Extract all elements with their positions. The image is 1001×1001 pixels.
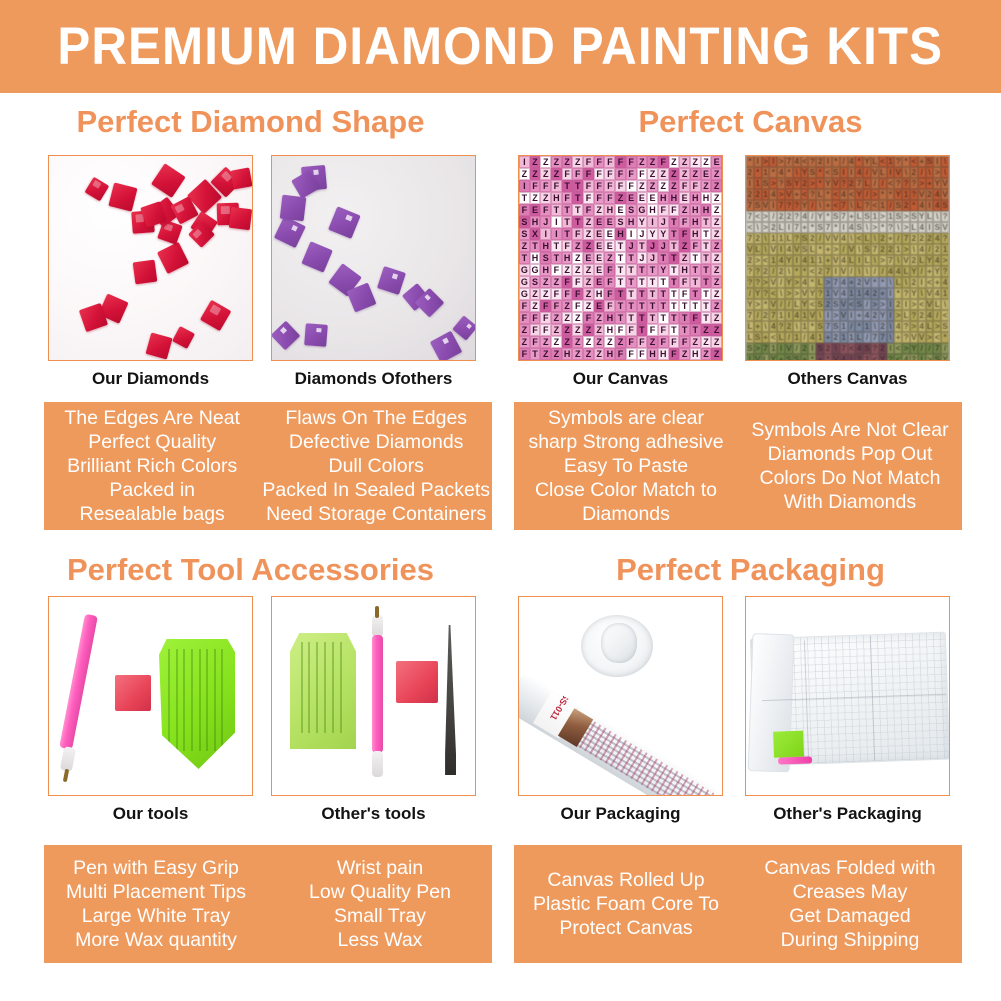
- canvas-cell: T: [530, 348, 541, 360]
- canvas-cell: S: [530, 276, 541, 288]
- canvas-cell: T: [701, 264, 712, 276]
- canvas-cell: F: [583, 180, 594, 192]
- canvas-cell-blurry: 4: [777, 167, 785, 178]
- canvas-cell-blurry: 1: [879, 200, 887, 211]
- canvas-cell-blurry: ?: [887, 354, 895, 361]
- canvas-cell-blurry: 2: [746, 255, 754, 266]
- canvas-cell-blurry: L: [902, 266, 910, 277]
- canvas-cell-blurry: S: [941, 321, 949, 332]
- canvas-cell-blurry: Y: [894, 189, 902, 200]
- caption-other-canvas: Others Canvas: [745, 369, 950, 389]
- canvas-cell: Z: [711, 204, 722, 216]
- canvas-cell-blurry: S: [816, 222, 824, 233]
- canvas-cell-blurry: V: [918, 332, 926, 343]
- canvas-cell-blurry: V: [808, 310, 816, 321]
- canvas-cell-blurry: Y: [879, 310, 887, 321]
- canvas-cell-blurry: S: [746, 343, 754, 354]
- canvas-cell: Z: [637, 156, 648, 168]
- canvas-cell: Z: [572, 156, 583, 168]
- canvas-cell: F: [604, 168, 615, 180]
- canvas-cell: E: [594, 300, 605, 312]
- diamond-drill: [271, 321, 300, 351]
- canvas-cell-blurry: 4: [918, 244, 926, 255]
- canvas-cell-blurry: \: [887, 332, 895, 343]
- canvas-cell-blurry: +: [762, 332, 770, 343]
- other-tools-photo: [272, 597, 475, 795]
- caption-our-diamonds: Our Diamonds: [48, 369, 253, 389]
- info-line: Easy To Paste: [564, 454, 688, 478]
- canvas-cell-blurry: L: [855, 200, 863, 211]
- canvas-cell: H: [690, 216, 701, 228]
- pen-cap-icon: [372, 751, 383, 777]
- canvas-cell-blurry: >: [785, 288, 793, 299]
- canvas-cell-blurry: 4: [933, 233, 941, 244]
- canvas-cell: Z: [530, 168, 541, 180]
- info-line: Need Storage Containers: [266, 502, 486, 526]
- canvas-cell: Z: [690, 336, 701, 348]
- canvas-cell-blurry: \: [848, 354, 856, 361]
- tray-grooves-icon: [159, 639, 235, 769]
- canvas-cell-blurry: 4: [840, 288, 848, 299]
- canvas-cell: F: [626, 336, 637, 348]
- canvas-cell-blurry: 1: [863, 321, 871, 332]
- info-line: Multi Placement Tips: [66, 880, 246, 904]
- canvas-cell: F: [615, 348, 626, 360]
- canvas-cell: F: [637, 348, 648, 360]
- canvas-cell: Z: [711, 360, 722, 361]
- canvas-cell-blurry: /: [808, 211, 816, 222]
- canvas-cell-blurry: I: [754, 156, 762, 167]
- small-green-tray-icon: [290, 633, 356, 749]
- canvas-cell: G: [530, 264, 541, 276]
- canvas-cell: F: [551, 264, 562, 276]
- canvas-cell-blurry: Y: [754, 288, 762, 299]
- canvas-cell-blurry: L: [871, 156, 879, 167]
- canvas-cell-blurry: 7: [746, 310, 754, 321]
- pen-needle-icon: [375, 606, 379, 618]
- canvas-cell-blurry: 2: [887, 244, 895, 255]
- canvas-cell-blurry: +: [754, 321, 762, 332]
- canvas-cell-blurry: I: [777, 244, 785, 255]
- canvas-cell: F: [679, 336, 690, 348]
- info-line: Dull Colors: [329, 454, 424, 478]
- canvas-cell-blurry: /: [926, 244, 934, 255]
- canvas-cell-blurry: <: [918, 299, 926, 310]
- canvas-cell: Z: [711, 300, 722, 312]
- canvas-cell-blurry: S: [785, 354, 793, 361]
- canvas-cell: Y: [658, 228, 669, 240]
- canvas-cell: Z: [701, 348, 712, 360]
- canvas-cell: F: [540, 312, 551, 324]
- canvas-cell-blurry: S: [801, 244, 809, 255]
- canvas-cell: T: [637, 324, 648, 336]
- canvas-cell-blurry: ?: [762, 288, 770, 299]
- canvas-cell: E: [583, 252, 594, 264]
- canvas-cell-blurry: >: [941, 255, 949, 266]
- canvas-cell-blurry: S: [855, 222, 863, 233]
- canvas-cell-blurry: /: [926, 343, 934, 354]
- canvas-cell-blurry: 4: [769, 321, 777, 332]
- canvas-cell: H: [604, 312, 615, 324]
- canvas-cell-blurry: V: [941, 222, 949, 233]
- canvas-cell-blurry: 4: [840, 189, 848, 200]
- diamond-drill: [157, 242, 189, 274]
- canvas-cell-blurry: 2: [879, 343, 887, 354]
- photo-card-our-canvas: IZZZZZFFFFFZZFZZZZEZZZZFFFFFFFFZZZZZEZIF…: [518, 155, 723, 361]
- infobox-diamond-shape-others: Flaws On The Edges Defective Diamonds Du…: [260, 402, 492, 530]
- section-title-packaging: Perfect Packaging: [500, 552, 1001, 588]
- canvas-cell: E: [594, 252, 605, 264]
- canvas-cell-blurry: >: [894, 310, 902, 321]
- canvas-cell: Z: [711, 336, 722, 348]
- canvas-cell-blurry: /: [863, 167, 871, 178]
- canvas-cell-blurry: S: [816, 299, 824, 310]
- diamond-drill: [280, 195, 307, 222]
- canvas-cell: F: [615, 324, 626, 336]
- canvas-cell-blurry: S: [816, 321, 824, 332]
- canvas-cell: Z: [551, 348, 562, 360]
- canvas-cell: H: [647, 348, 658, 360]
- canvas-cell-blurry: S: [754, 332, 762, 343]
- canvas-cell-blurry: >: [754, 299, 762, 310]
- canvas-cell-blurry: +: [848, 211, 856, 222]
- canvas-cell-blurry: ?: [785, 200, 793, 211]
- canvas-cell-blurry: *: [894, 288, 902, 299]
- canvas-cell: Z: [562, 300, 573, 312]
- caption-other-tools: Other's tools: [271, 804, 476, 824]
- canvas-cell: Z: [583, 276, 594, 288]
- canvas-cell-blurry: Y: [785, 255, 793, 266]
- canvas-cell-blurry: 7: [824, 266, 832, 277]
- canvas-cell: F: [679, 216, 690, 228]
- canvas-cell-blurry: 7: [840, 211, 848, 222]
- canvas-cell-blurry: <: [801, 156, 809, 167]
- canvas-cell: Z: [594, 204, 605, 216]
- canvas-cell: T: [551, 204, 562, 216]
- info-line: Plastic Foam Core To: [533, 892, 719, 916]
- canvas-cell-blurry: >: [902, 343, 910, 354]
- canvas-cell-blurry: 1: [848, 332, 856, 343]
- canvas-cell: H: [658, 192, 669, 204]
- diamond-drill: [230, 167, 252, 189]
- canvas-cell-blurry: 2: [769, 222, 777, 233]
- canvas-cell: F: [594, 168, 605, 180]
- canvas-cell-blurry: \: [887, 277, 895, 288]
- photo-card-our-packaging: SS-011: [518, 596, 723, 796]
- canvas-cell-blurry: >: [871, 299, 879, 310]
- canvas-cell-blurry: Y: [801, 299, 809, 310]
- canvas-cell-blurry: <: [824, 167, 832, 178]
- canvas-cell-blurry: /: [840, 156, 848, 167]
- canvas-cell: Z: [562, 264, 573, 276]
- canvas-cell-blurry: 4: [933, 288, 941, 299]
- canvas-cell: Z: [562, 324, 573, 336]
- pen-tip-icon: [372, 615, 383, 637]
- canvas-cell: H: [551, 192, 562, 204]
- canvas-cell: Z: [572, 240, 583, 252]
- canvas-cell: T: [647, 276, 658, 288]
- canvas-cell-blurry: >: [926, 332, 934, 343]
- canvas-cell: F: [530, 336, 541, 348]
- canvas-cell-blurry: V: [832, 178, 840, 189]
- red-drills-photo: [49, 156, 252, 360]
- canvas-cell: T: [658, 276, 669, 288]
- canvas-cell: Z: [583, 360, 594, 361]
- canvas-cell: T: [572, 216, 583, 228]
- sharp-canvas-photo: IZZZZZFFFFFZZFZZZZEZZZZFFFFFFFFZZZZZEZIF…: [519, 156, 722, 360]
- canvas-cell: F: [669, 348, 680, 360]
- canvas-cell-blurry: +: [816, 354, 824, 361]
- canvas-cell: Z: [551, 168, 562, 180]
- canvas-cell: F: [583, 312, 594, 324]
- canvas-cell: F: [604, 300, 615, 312]
- green-tray-visible-icon: [773, 731, 804, 758]
- canvas-cell-blurry: *: [855, 156, 863, 167]
- canvas-cell: Z: [583, 216, 594, 228]
- canvas-cell-blurry: <: [910, 156, 918, 167]
- canvas-cell: S: [519, 228, 530, 240]
- info-line: Colors Do Not Match: [760, 466, 941, 490]
- canvas-cell: T: [615, 300, 626, 312]
- canvas-cell-blurry: S: [863, 244, 871, 255]
- canvas-cell: H: [647, 204, 658, 216]
- info-line: Canvas Rolled Up: [547, 868, 704, 892]
- canvas-cell: E: [604, 216, 615, 228]
- canvas-cell-blurry: S: [910, 211, 918, 222]
- canvas-cell-blurry: S: [785, 178, 793, 189]
- canvas-cell-blurry: ?: [863, 200, 871, 211]
- canvas-cell-blurry: V: [832, 354, 840, 361]
- canvas-cell: Z: [551, 336, 562, 348]
- photo-card-our-diamonds: [48, 155, 253, 361]
- canvas-cell-blurry: +: [879, 288, 887, 299]
- canvas-cell-blurry: 1: [816, 332, 824, 343]
- canvas-cell: T: [562, 228, 573, 240]
- canvas-cell-blurry: 4: [808, 332, 816, 343]
- canvas-cell: F: [519, 360, 530, 361]
- canvas-cell: F: [604, 156, 615, 168]
- canvas-cell-blurry: V: [824, 233, 832, 244]
- canvas-cell-blurry: 2: [848, 178, 856, 189]
- canvas-cell: T: [701, 288, 712, 300]
- canvas-cell-blurry: /: [863, 299, 871, 310]
- canvas-cell-blurry: Y: [910, 343, 918, 354]
- canvas-cell-blurry: Y: [824, 178, 832, 189]
- canvas-cell: Z: [637, 180, 648, 192]
- canvas-cell: E: [594, 240, 605, 252]
- canvas-cell: Z: [669, 156, 680, 168]
- canvas-cell-blurry: 1: [816, 255, 824, 266]
- canvas-cell-blurry: L: [933, 299, 941, 310]
- canvas-cell: H: [604, 348, 615, 360]
- canvas-cell-blurry: L: [863, 255, 871, 266]
- canvas-cell-blurry: ?: [793, 211, 801, 222]
- canvas-cell: T: [690, 288, 701, 300]
- canvas-cell-blurry: >: [918, 178, 926, 189]
- canvas-cell: Z: [530, 192, 541, 204]
- canvas-cell-blurry: S: [894, 200, 902, 211]
- canvas-cell-blurry: >: [762, 156, 770, 167]
- canvas-cell: T: [615, 312, 626, 324]
- canvas-cell-blurry: 1: [887, 211, 895, 222]
- canvas-cell-blurry: +: [824, 255, 832, 266]
- canvas-cell: J: [658, 240, 669, 252]
- canvas-cell: F: [615, 156, 626, 168]
- canvas-cell: Z: [711, 216, 722, 228]
- canvas-cell-blurry: /: [879, 266, 887, 277]
- canvas-cell: Z: [701, 324, 712, 336]
- canvas-cell-blurry: ?: [871, 343, 879, 354]
- canvas-cell: F: [679, 180, 690, 192]
- canvas-cell: Z: [540, 192, 551, 204]
- info-line: Low Quality Pen: [309, 880, 451, 904]
- our-tools-photo: [49, 597, 252, 795]
- section-title-diamond-shape: Perfect Diamond Shape: [0, 104, 501, 140]
- canvas-cell: F: [669, 204, 680, 216]
- canvas-cell-blurry: 4: [918, 200, 926, 211]
- canvas-cell: E: [647, 192, 658, 204]
- canvas-cell-blurry: I: [855, 255, 863, 266]
- canvas-cell: Z: [679, 252, 690, 264]
- canvas-cell-blurry: \: [926, 167, 934, 178]
- canvas-cell: Z: [540, 348, 551, 360]
- rolled-canvas-tube-icon: SS-011: [518, 672, 718, 796]
- canvas-cell-blurry: 2: [879, 244, 887, 255]
- canvas-cell: H: [690, 204, 701, 216]
- infobox-tools-ours: Pen with Easy Grip Multi Placement Tips …: [44, 845, 268, 963]
- canvas-cell: H: [530, 252, 541, 264]
- canvas-cell: T: [701, 312, 712, 324]
- canvas-cell: Z: [551, 276, 562, 288]
- canvas-cell: J: [626, 240, 637, 252]
- canvas-cell-blurry: S: [832, 321, 840, 332]
- canvas-cell: T: [626, 276, 637, 288]
- photo-card-other-canvas: *I>I>74<?2I*/4*YL<1?*<+SI\2*1*4*\YS*<SII…: [745, 155, 950, 361]
- canvas-cell: T: [690, 252, 701, 264]
- canvas-cell: T: [701, 228, 712, 240]
- canvas-cell-blurry: I: [832, 266, 840, 277]
- canvas-cell-blurry: \: [887, 321, 895, 332]
- canvas-cell-blurry: 2: [902, 200, 910, 211]
- bubble-mailer-icon: [750, 632, 950, 767]
- canvas-cell: T: [701, 252, 712, 264]
- canvas-cell-blurry: +: [855, 310, 863, 321]
- canvas-cell-blurry: I: [840, 167, 848, 178]
- infobox-packaging-ours: Canvas Rolled Up Plastic Foam Core To Pr…: [514, 845, 738, 963]
- canvas-cell-blurry: \: [871, 255, 879, 266]
- canvas-cell-blurry: 4: [855, 167, 863, 178]
- canvas-cell: E: [701, 168, 712, 180]
- info-line: Defective Diamonds: [289, 430, 464, 454]
- canvas-cell-blurry: \: [894, 255, 902, 266]
- photo-card-other-diamonds: [271, 155, 476, 361]
- canvas-cell: T: [615, 264, 626, 276]
- canvas-cell-blurry: /: [769, 211, 777, 222]
- canvas-cell-blurry: +: [926, 178, 934, 189]
- canvas-cell-blurry: S: [793, 354, 801, 361]
- canvas-cell: T: [637, 312, 648, 324]
- canvas-cell-blurry: L: [863, 178, 871, 189]
- canvas-cell: Z: [615, 192, 626, 204]
- canvas-cell: Y: [647, 228, 658, 240]
- canvas-cell-blurry: L: [785, 233, 793, 244]
- canvas-cell: Z: [540, 168, 551, 180]
- canvas-cell: T: [701, 216, 712, 228]
- canvas-cell-blurry: \: [918, 288, 926, 299]
- canvas-cell: T: [562, 180, 573, 192]
- canvas-cell: F: [679, 228, 690, 240]
- canvas-cell-blurry: <: [762, 255, 770, 266]
- canvas-cell: Z: [711, 180, 722, 192]
- canvas-cell-blurry: >: [777, 189, 785, 200]
- canvas-cell: Z: [594, 312, 605, 324]
- canvas-cell-blurry: I: [824, 310, 832, 321]
- canvas-cell-blurry: /: [918, 167, 926, 178]
- canvas-cell-blurry: V: [902, 255, 910, 266]
- canvas-cell-blurry: \: [902, 277, 910, 288]
- other-packaging-photo: [746, 597, 949, 795]
- canvas-cell-blurry: >: [902, 211, 910, 222]
- canvas-cell-blurry: *: [910, 200, 918, 211]
- canvas-cell-blurry: >: [754, 343, 762, 354]
- infobox-canvas-ours: Symbols are clear sharp Strong adhesive …: [514, 402, 738, 530]
- info-line: Creases May: [793, 880, 908, 904]
- canvas-cell: Z: [711, 312, 722, 324]
- canvas-cell-blurry: >: [824, 277, 832, 288]
- canvas-cell-blurry: L: [754, 244, 762, 255]
- canvas-cell-blurry: \: [793, 321, 801, 332]
- canvas-cell-blurry: 7: [871, 332, 879, 343]
- canvas-cell: T: [679, 312, 690, 324]
- canvas-cell-blurry: ?: [816, 288, 824, 299]
- canvas-cell-blurry: <: [855, 233, 863, 244]
- canvas-cell: F: [626, 324, 637, 336]
- canvas-cell: Y: [658, 264, 669, 276]
- canvas-cell: T: [669, 312, 680, 324]
- canvas-cell-blurry: V: [840, 299, 848, 310]
- canvas-cell-blurry: \: [762, 233, 770, 244]
- canvas-cell-blurry: 7: [746, 211, 754, 222]
- canvas-cell-blurry: >: [793, 277, 801, 288]
- canvas-cell-blurry: +: [801, 354, 809, 361]
- pink-pen-icon: [372, 635, 383, 753]
- canvas-cell: Z: [701, 156, 712, 168]
- canvas-cell: Z: [583, 288, 594, 300]
- canvas-cell-blurry: *: [808, 354, 816, 361]
- canvas-cell: T: [669, 264, 680, 276]
- canvas-cell-blurry: S: [941, 200, 949, 211]
- canvas-cell-blurry: <: [746, 222, 754, 233]
- infobox-packaging-others: Canvas Folded with Creases May Get Damag…: [738, 845, 962, 963]
- canvas-cell-blurry: I: [769, 200, 777, 211]
- canvas-cell-blurry: L: [894, 277, 902, 288]
- canvas-cell-blurry: 4: [918, 222, 926, 233]
- canvas-cell-blurry: >: [871, 222, 879, 233]
- canvas-cell-blurry: 1: [801, 321, 809, 332]
- info-line: Canvas Folded with: [764, 856, 935, 880]
- diamond-drill: [172, 326, 195, 349]
- canvas-cell-blurry: I: [785, 222, 793, 233]
- canvas-cell: F: [530, 312, 541, 324]
- canvas-cell: F: [604, 192, 615, 204]
- canvas-cell-blurry: 2: [746, 189, 754, 200]
- canvas-cell: F: [572, 300, 583, 312]
- canvas-cell-blurry: \: [762, 321, 770, 332]
- canvas-cell: Z: [583, 336, 594, 348]
- canvas-cell-blurry: \: [902, 167, 910, 178]
- canvas-cell-blurry: S: [933, 354, 941, 361]
- canvas-cell-blurry: <: [848, 189, 856, 200]
